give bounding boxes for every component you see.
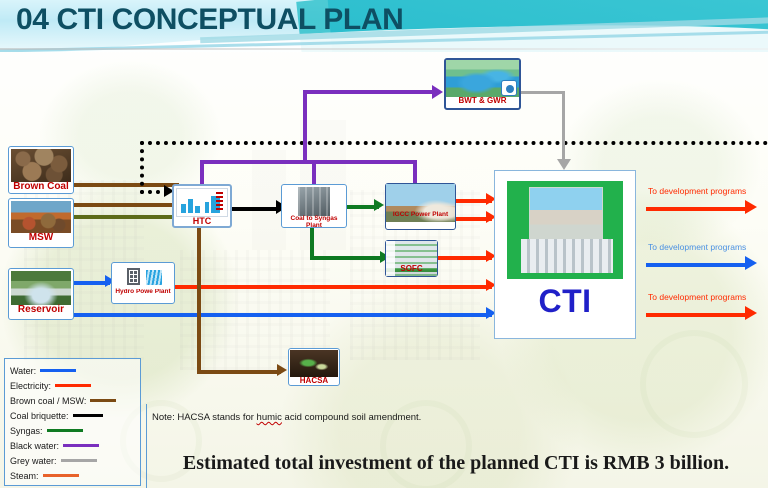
node-label-syngas: Coal to Syngas Plant [282, 216, 346, 230]
line-htc-syngasplant [232, 207, 280, 211]
legend-label: Black water: [10, 441, 59, 451]
node-coal-to-syngas-plant[interactable]: Coal to Syngas Plant [281, 184, 347, 228]
arrow-output-3 [745, 306, 757, 320]
note-underlined-word: humic [257, 412, 282, 423]
legend-item: Electricity: [10, 378, 140, 393]
legend-swatch-water [40, 369, 76, 372]
cti-towers-photo [521, 239, 613, 273]
node-label-hydro: Hydro Powe Plant [112, 289, 174, 296]
arrow-output-1 [745, 200, 757, 214]
legend-item: Coal briquette: [10, 408, 140, 423]
output-label-1: To development programs [648, 186, 746, 196]
line-greywater-down [562, 91, 565, 159]
brown-coal-photo [11, 149, 71, 182]
legend-swatch-coalbriquette [73, 414, 103, 417]
legend-item: Steam: [10, 468, 140, 483]
line-msw-htc [74, 215, 178, 219]
cti-plant-photo [529, 187, 603, 241]
output-label-3: To development programs [648, 292, 746, 302]
line-blackwater-riser [303, 90, 307, 164]
legend-item: Black water: [10, 438, 140, 453]
node-label-cti: CTI [495, 283, 635, 320]
legend-swatch-syngas [47, 429, 83, 432]
line-hydro-electricity [175, 285, 492, 289]
legend-swatch-electricity [55, 384, 91, 387]
slide-canvas: 04 CTI CONCEPTUAL PLAN [0, 0, 768, 488]
node-label-hacsa: HACSA [289, 377, 339, 385]
line-htc-down [197, 228, 201, 374]
footer-divider [146, 404, 147, 488]
page-title: 04 CTI CONCEPTUAL PLAN [16, 3, 403, 37]
arrow-greywater-cti [557, 159, 571, 170]
legend-swatch-browncoal [90, 399, 116, 402]
node-igcc-power-plant[interactable]: IGCC Power Plant [385, 183, 456, 230]
syngas-plant-photo [298, 187, 330, 216]
node-label-reservoir: Reservoir [9, 305, 73, 316]
node-label-msw: MSW [9, 233, 73, 244]
hacsa-photo [290, 350, 338, 377]
line-output-2 [646, 263, 750, 267]
legend-swatch-steam [43, 474, 79, 477]
legend-label: Steam: [10, 471, 39, 481]
investment-statement: Estimated total investment of the planne… [150, 452, 762, 475]
reservoir-photo [11, 271, 71, 305]
hydro-plant-icon [121, 265, 165, 289]
legend-swatch-blackwater [63, 444, 99, 447]
line-output-1 [646, 207, 750, 211]
arrow-htc-hacsa [277, 364, 287, 376]
line-coalbriquette-down [140, 141, 144, 194]
arrow-syngas-igcc [374, 199, 384, 211]
legend-label: Grey water: [10, 456, 57, 466]
bwt-gwr-photo [446, 60, 519, 97]
node-label-sofc: SOFC [386, 265, 437, 273]
legend-item: Brown coal / MSW: [10, 393, 140, 408]
node-hacsa[interactable]: HACSA [288, 348, 340, 386]
output-label-2: To development programs [648, 242, 746, 252]
line-htc-hacsa [197, 370, 281, 374]
line-blackwater-bus [200, 160, 417, 164]
legend-label: Water: [10, 366, 36, 376]
line-coalbriquette-top [140, 141, 768, 145]
node-brown-coal[interactable]: Brown Coal [8, 146, 74, 194]
legend-label: Syngas: [10, 426, 43, 436]
header-divider [0, 48, 768, 50]
node-label-igcc: IGCC Power Plant [386, 212, 455, 219]
htc-icon [176, 188, 228, 217]
note-suffix: acid compound soil amendment. [282, 412, 421, 423]
note-text: Note: HACSA stands for humic acid compou… [152, 412, 421, 423]
node-label-bwt-gwr: BWT & GWR [446, 97, 519, 105]
legend-item: Syngas: [10, 423, 140, 438]
legend-label: Brown coal / MSW: [10, 396, 86, 406]
legend-item: Grey water: [10, 453, 140, 468]
legend-label: Coal briquette: [10, 411, 69, 421]
node-label-htc: HTC [174, 217, 230, 226]
line-sofc-cti [438, 256, 492, 260]
line-output-3 [646, 313, 750, 317]
legend-panel: Water: Electricity: Brown coal / MSW: Co… [4, 358, 141, 486]
node-cti[interactable]: CTI [494, 170, 636, 339]
node-sofc[interactable]: SOFC [385, 240, 438, 277]
line-browncoal-right [74, 203, 179, 207]
bwt-badge-dot-icon [506, 85, 514, 93]
node-htc[interactable]: HTC [172, 184, 232, 228]
legend-item: Water: [10, 363, 140, 378]
cti-green-panel [507, 181, 623, 279]
node-reservoir[interactable]: Reservoir [8, 268, 74, 320]
msw-photo [11, 201, 71, 233]
legend-swatch-greywater [61, 459, 97, 462]
watermark-ring [640, 330, 748, 438]
node-hydro-power-plant[interactable]: Hydro Powe Plant [111, 262, 175, 304]
legend-label: Electricity: [10, 381, 51, 391]
note-prefix: Note: HACSA stands for [152, 412, 257, 423]
arrow-blackwater-bwt [432, 85, 443, 99]
line-water-to-cti [74, 313, 492, 317]
arrow-output-2 [745, 256, 757, 270]
line-syngas-sofc [310, 256, 384, 260]
node-msw[interactable]: MSW [8, 198, 74, 248]
line-greywater-right [521, 91, 565, 94]
node-label-brown-coal: Brown Coal [9, 182, 73, 193]
node-bwt-gwr[interactable]: BWT & GWR [444, 58, 521, 110]
line-blackwater-to-bwt [303, 90, 436, 94]
